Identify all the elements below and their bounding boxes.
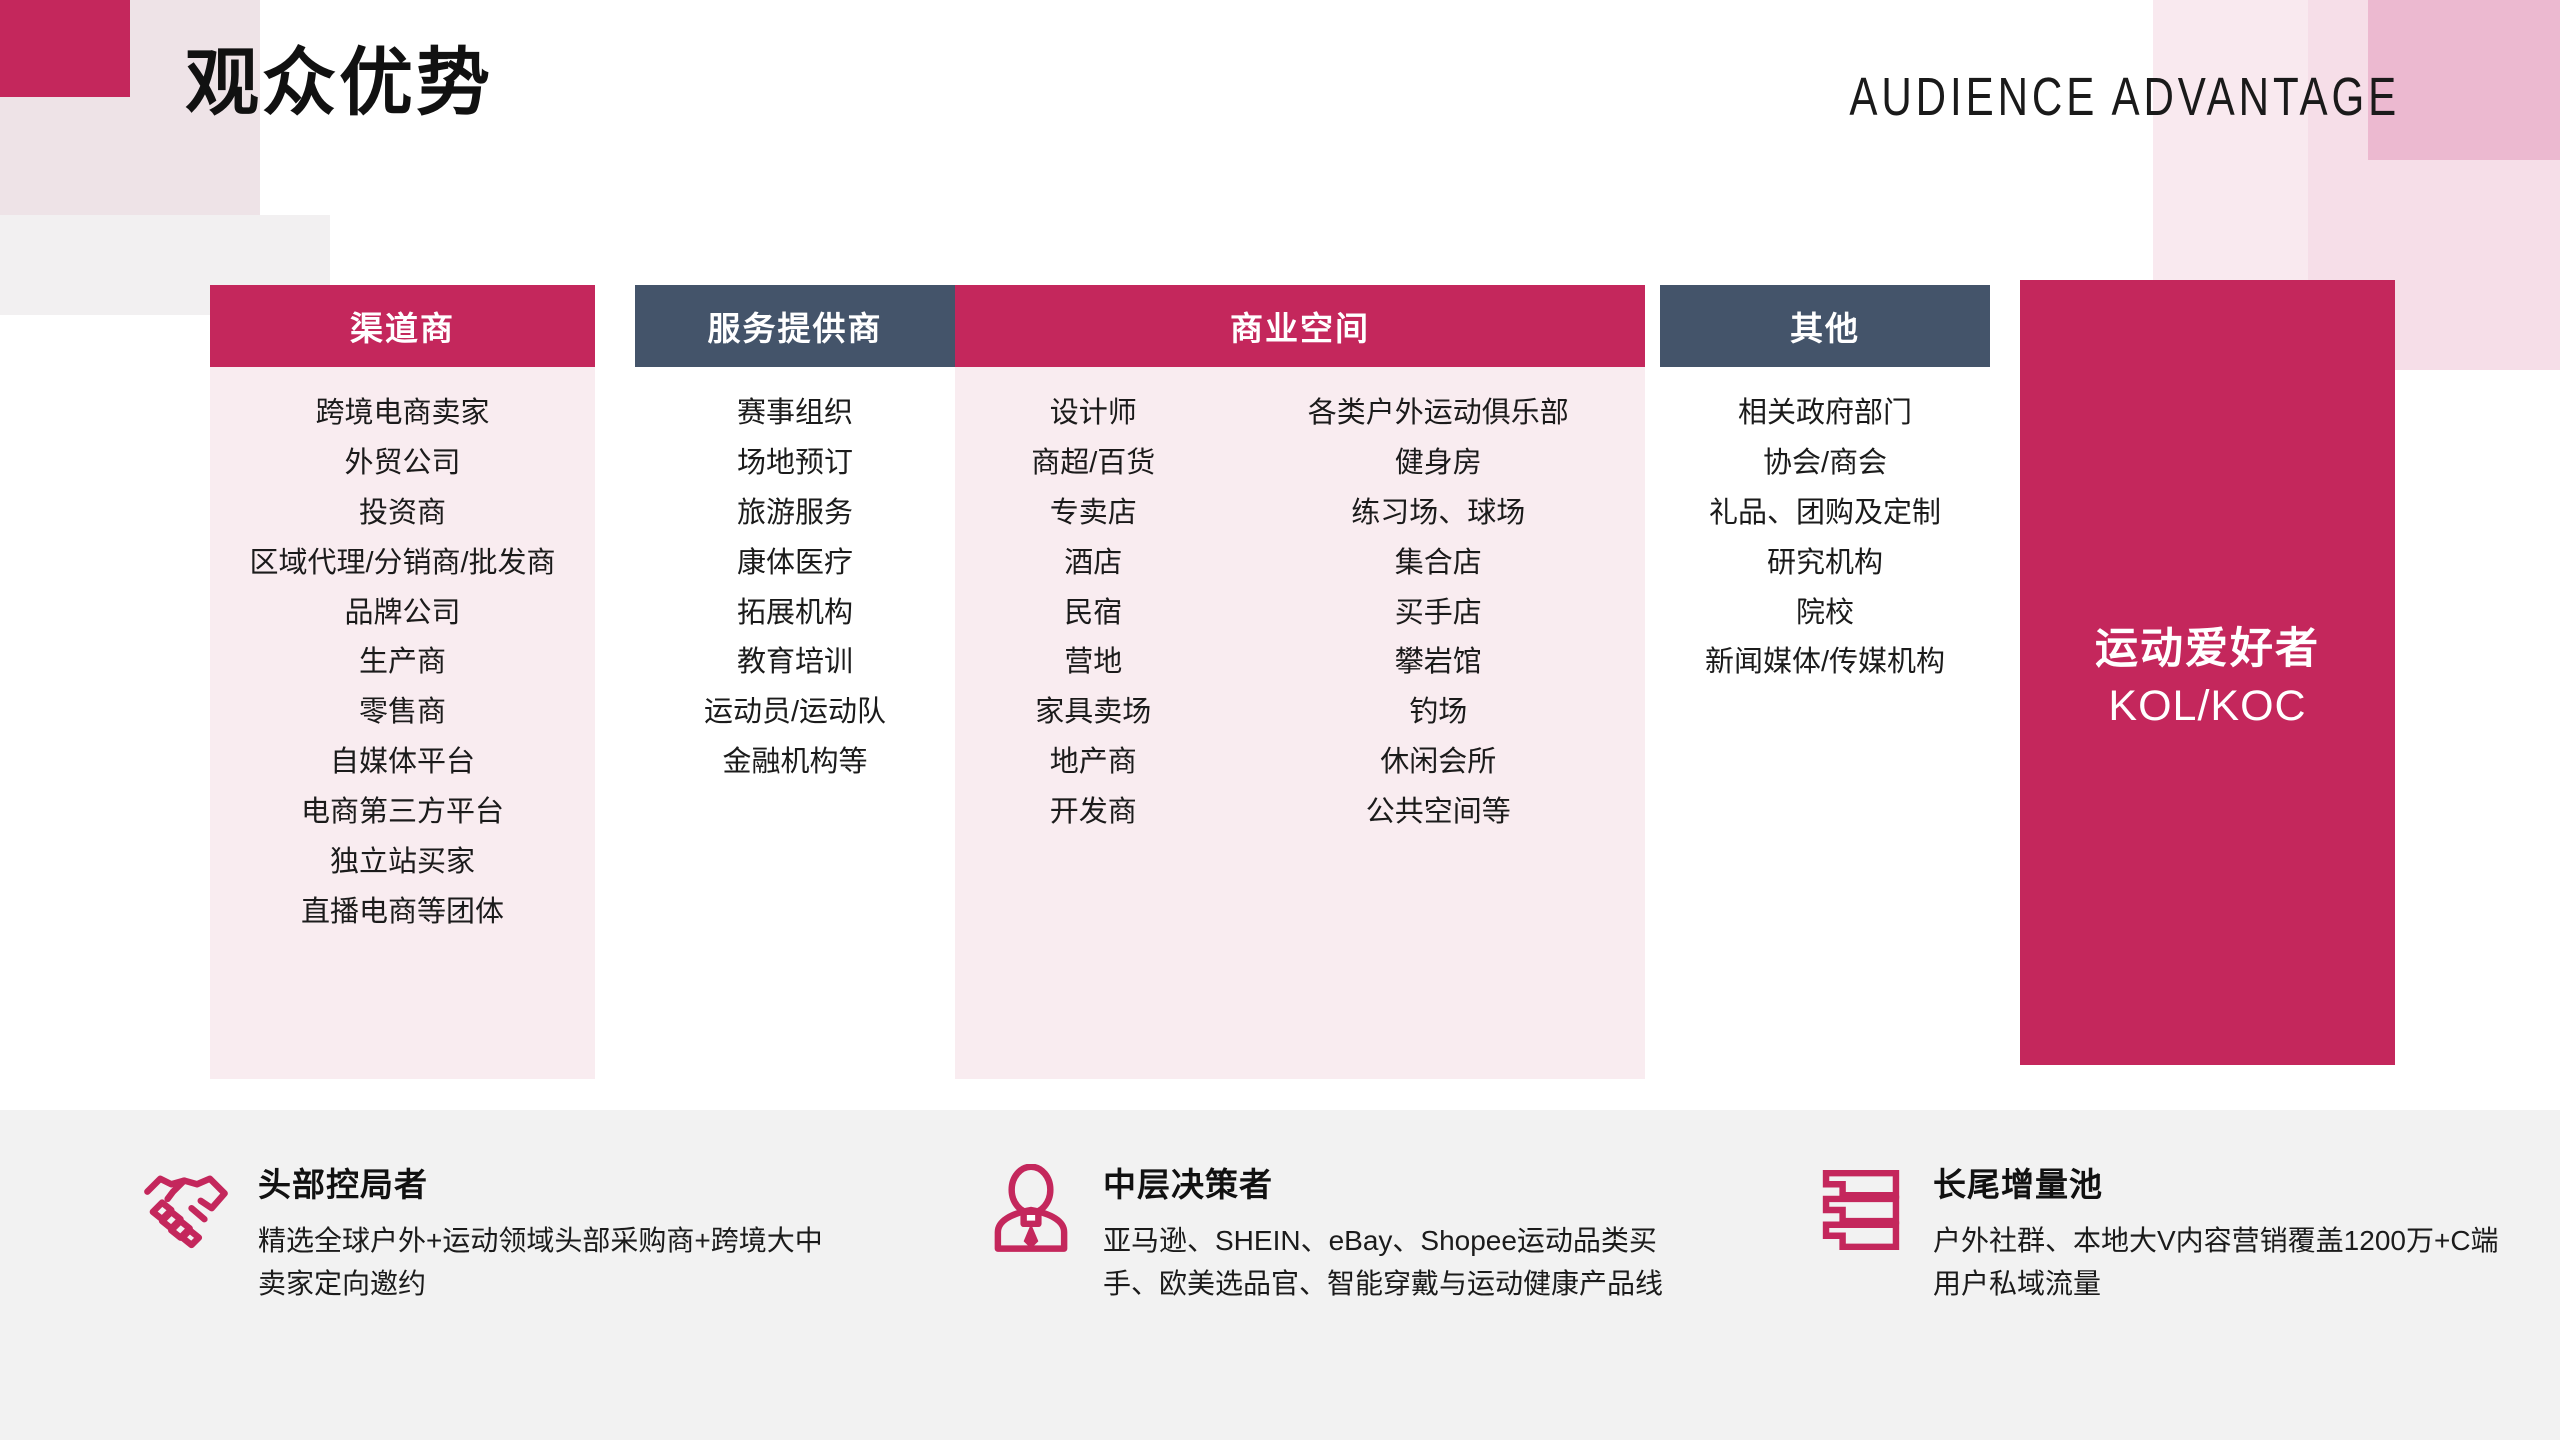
list-item: 场地预订: [737, 439, 853, 489]
feature-long-tail-pool: 长尾增量池 户外社群、本地大V内容营销覆盖1200万+C端用户私域流量: [1815, 1156, 2515, 1305]
feature-mid-decision-maker: 中层决策者 亚马逊、SHEIN、eBay、Shopee运动品类买手、欧美选品官、…: [985, 1156, 1685, 1305]
card-channel-list: 跨境电商卖家 外贸公司 投资商 区域代理/分销商/批发商 品牌公司 生产商 零售…: [249, 389, 555, 1079]
list-item: 品牌公司: [344, 589, 460, 639]
card-service-provider-list: 赛事组织 场地预订 旅游服务 康体医疗 拓展机构 教育培训 运动员/运动队 金融…: [704, 389, 886, 1079]
page-title-cn: 观众优势: [185, 46, 493, 120]
feature-description: 精选全球户外+运动领域头部采购商+跨境大中卖家定向邀约: [258, 1220, 840, 1305]
list-item: 外贸公司: [344, 439, 460, 489]
feature-mid-decision-maker-text: 中层决策者 亚马逊、SHEIN、eBay、Shopee运动品类买手、欧美选品官、…: [1103, 1156, 1685, 1305]
layers-icon: [1815, 1164, 1907, 1256]
feature-description: 户外社群、本地大V内容营销覆盖1200万+C端用户私域流量: [1933, 1220, 2515, 1305]
card-commercial-space-body: 设计师 商超/百货 专卖店 酒店 民宿 营地 家具卖场 地产商 开发商 各类户外…: [955, 367, 1645, 1079]
list-item: 独立站买家: [330, 838, 475, 888]
list-item: 运动员/运动队: [704, 688, 886, 738]
list-item: 礼品、团购及定制: [1709, 489, 1941, 539]
card-other-header: 其他: [1660, 285, 1990, 367]
list-item: 民宿: [1064, 589, 1122, 639]
kol-koc-label-en: KOL/KOC: [2108, 682, 2306, 731]
card-other: 其他 相关政府部门 协会/商会 礼品、团购及定制 研究机构 院校 新闻媒体/传媒…: [1660, 285, 1990, 1079]
list-item: 直播电商等团体: [301, 888, 504, 938]
list-item: 零售商: [359, 688, 446, 738]
feature-band: 头部控局者 精选全球户外+运动领域头部采购商+跨境大中卖家定向邀约 中层决策者 …: [0, 1110, 2560, 1440]
list-item: 跨境电商卖家: [315, 389, 489, 439]
list-item: 教育培训: [737, 638, 853, 688]
list-item: 赛事组织: [737, 389, 853, 439]
list-item: 公共空间等: [1366, 788, 1511, 838]
audience-card-grid: 渠道商 跨境电商卖家 外贸公司 投资商 区域代理/分销商/批发商 品牌公司 生产…: [0, 285, 2560, 1085]
card-commercial-space-list-left: 设计师 商超/百货 专卖店 酒店 民宿 营地 家具卖场 地产商 开发商: [1031, 389, 1155, 838]
list-item: 区域代理/分销商/批发商: [249, 539, 555, 589]
list-item: 协会/商会: [1763, 439, 1887, 489]
list-item: 地产商: [1050, 738, 1137, 788]
feature-title: 长尾增量池: [1933, 1158, 2515, 1206]
slide-header: 观众优势 AUDIENCE ADVANTAGE: [0, 0, 2560, 230]
feature-top-controller: 头部控局者 精选全球户外+运动领域头部采购商+跨境大中卖家定向邀约: [140, 1156, 840, 1305]
list-item: 拓展机构: [737, 589, 853, 639]
list-item: 营地: [1064, 638, 1122, 688]
card-channel: 渠道商 跨境电商卖家 外贸公司 投资商 区域代理/分销商/批发商 品牌公司 生产…: [210, 285, 595, 1079]
list-item: 投资商: [359, 489, 446, 539]
feature-long-tail-pool-text: 长尾增量池 户外社群、本地大V内容营销覆盖1200万+C端用户私域流量: [1933, 1156, 2515, 1305]
card-other-list: 相关政府部门 协会/商会 礼品、团购及定制 研究机构 院校 新闻媒体/传媒机构: [1705, 389, 1945, 1079]
feature-title: 头部控局者: [258, 1158, 840, 1206]
list-item: 新闻媒体/传媒机构: [1705, 638, 1945, 688]
card-commercial-space-list-right: 各类户外运动俱乐部 健身房 练习场、球场 集合店 买手店 攀岩馆 钓场 休闲会所…: [1308, 389, 1569, 838]
kol-koc-label-cn: 运动爱好者: [2095, 614, 2320, 676]
list-item: 院校: [1796, 589, 1854, 639]
list-item: 电商第三方平台: [301, 788, 504, 838]
feature-description: 亚马逊、SHEIN、eBay、Shopee运动品类买手、欧美选品官、智能穿戴与运…: [1103, 1220, 1685, 1305]
list-item: 各类户外运动俱乐部: [1308, 389, 1569, 439]
list-item: 健身房: [1395, 439, 1482, 489]
card-commercial-space: 商业空间 设计师 商超/百货 专卖店 酒店 民宿 营地 家具卖场 地产商 开发商…: [955, 285, 1645, 1079]
list-item: 金融机构等: [722, 738, 867, 788]
list-item: 专卖店: [1050, 489, 1137, 539]
card-service-provider: 服务提供商 赛事组织 场地预订 旅游服务 康体医疗 拓展机构 教育培训 运动员/…: [635, 285, 955, 1079]
list-item: 休闲会所: [1380, 738, 1496, 788]
card-commercial-space-header: 商业空间: [955, 285, 1645, 367]
list-item: 集合店: [1395, 539, 1482, 589]
card-service-provider-body: 赛事组织 场地预订 旅游服务 康体医疗 拓展机构 教育培训 运动员/运动队 金融…: [635, 367, 955, 1079]
feature-title: 中层决策者: [1103, 1158, 1685, 1206]
list-item: 攀岩馆: [1395, 638, 1482, 688]
list-item: 家具卖场: [1035, 688, 1151, 738]
page-title-en: AUDIENCE ADVANTAGE: [1849, 66, 2400, 128]
list-item: 酒店: [1064, 539, 1122, 589]
card-other-body: 相关政府部门 协会/商会 礼品、团购及定制 研究机构 院校 新闻媒体/传媒机构: [1660, 367, 1990, 1079]
list-item: 相关政府部门: [1738, 389, 1912, 439]
feature-top-controller-text: 头部控局者 精选全球户外+运动领域头部采购商+跨境大中卖家定向邀约: [258, 1156, 840, 1305]
list-item: 自媒体平台: [330, 738, 475, 788]
list-item: 设计师: [1050, 389, 1137, 439]
handshake-icon: [140, 1164, 232, 1256]
list-item: 研究机构: [1767, 539, 1883, 589]
list-item: 生产商: [359, 638, 446, 688]
list-item: 康体医疗: [737, 539, 853, 589]
card-channel-header: 渠道商: [210, 285, 595, 367]
slide-root: 观众优势 AUDIENCE ADVANTAGE 渠道商 跨境电商卖家 外贸公司 …: [0, 0, 2560, 1440]
list-item: 练习场、球场: [1351, 489, 1525, 539]
list-item: 旅游服务: [737, 489, 853, 539]
list-item: 钓场: [1409, 688, 1467, 738]
card-service-provider-header: 服务提供商: [635, 285, 955, 367]
list-item: 买手店: [1395, 589, 1482, 639]
person-tie-icon: [985, 1164, 1077, 1256]
list-item: 商超/百货: [1031, 439, 1155, 489]
card-kol-koc: 运动爱好者 KOL/KOC: [2020, 280, 2395, 1065]
card-channel-body: 跨境电商卖家 外贸公司 投资商 区域代理/分销商/批发商 品牌公司 生产商 零售…: [210, 367, 595, 1079]
list-item: 开发商: [1050, 788, 1137, 838]
